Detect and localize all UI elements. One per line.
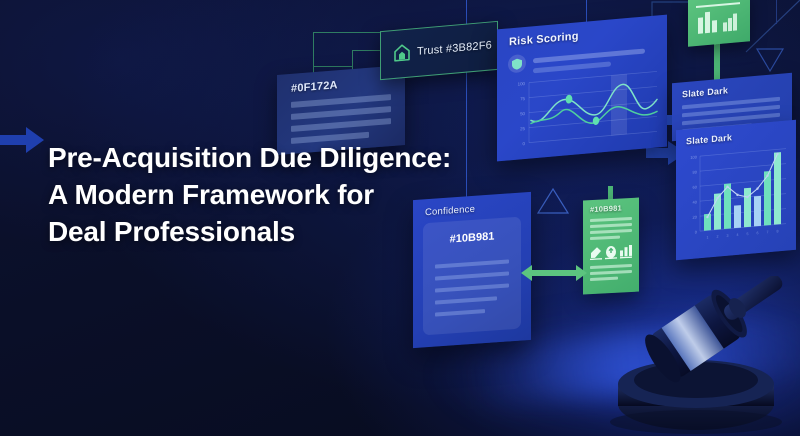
card-green-bar-chart[interactable]: [688, 0, 750, 47]
gavel-icon: [596, 276, 800, 436]
svg-text:7: 7: [767, 230, 769, 234]
bar-chart-icon: [620, 245, 632, 259]
connector-blue-vertical-3: [776, 0, 777, 24]
svg-text:20: 20: [693, 214, 698, 219]
card-slate-dark-2[interactable]: Slate Dark 1008060 40200: [676, 120, 796, 260]
svg-text:4: 4: [737, 233, 739, 237]
svg-text:25: 25: [520, 126, 525, 131]
svg-text:60: 60: [693, 184, 698, 189]
risk-progress-bar: [533, 48, 645, 63]
page-title-line3: Deal Professionals: [48, 214, 548, 251]
house-icon: [394, 44, 410, 62]
shield-icon: [508, 54, 526, 74]
svg-text:100: 100: [690, 154, 697, 160]
card-slate-dark-2-label: Slate Dark: [686, 132, 732, 146]
connector-horizontal-3: [313, 66, 353, 67]
page-title-line1: Pre-Acquisition Due Diligence:: [48, 140, 548, 177]
card-trust[interactable]: Trust #3B82F6: [380, 21, 498, 80]
corner-line-decor: [742, 0, 800, 54]
svg-text:6: 6: [757, 231, 759, 235]
svg-text:50: 50: [520, 111, 525, 116]
card-green-doc-label: #10B981: [590, 203, 622, 214]
connector-horizontal-1: [313, 32, 383, 33]
svg-text:80: 80: [693, 169, 698, 174]
hero-banner: #0F172A Trust #3B82F6 Risk Scoring: [0, 0, 800, 436]
svg-text:100: 100: [518, 81, 526, 87]
connector-blue-vertical-2: [586, 0, 587, 24]
slate-bar-chart: 1008060 40200 123 4: [684, 142, 788, 249]
arrow-right-blue-left: [0, 126, 46, 156]
green-card-stem: [714, 40, 720, 82]
svg-text:40: 40: [693, 199, 698, 204]
svg-text:8: 8: [777, 229, 779, 233]
svg-text:3: 3: [727, 234, 729, 238]
card-slate-doc-label: #0F172A: [291, 79, 338, 95]
bar-chart-icon: [696, 0, 742, 38]
page-title-line2: A Modern Framework for: [48, 177, 548, 214]
svg-text:2: 2: [717, 235, 719, 239]
page-title: Pre-Acquisition Due Diligence: A Modern …: [48, 140, 548, 251]
card-slate-dark-1-label: Slate Dark: [682, 85, 728, 99]
arrow-double-green: [521, 262, 587, 284]
svg-text:5: 5: [747, 232, 749, 236]
svg-text:1: 1: [707, 235, 709, 239]
svg-text:0: 0: [695, 229, 698, 234]
svg-text:75: 75: [520, 96, 525, 101]
card-trust-label: Trust #3B82F6: [417, 39, 492, 58]
edit-icon: [590, 246, 602, 260]
card-risk-label: Risk Scoring: [509, 30, 579, 48]
shield-lock-icon: [605, 246, 617, 260]
